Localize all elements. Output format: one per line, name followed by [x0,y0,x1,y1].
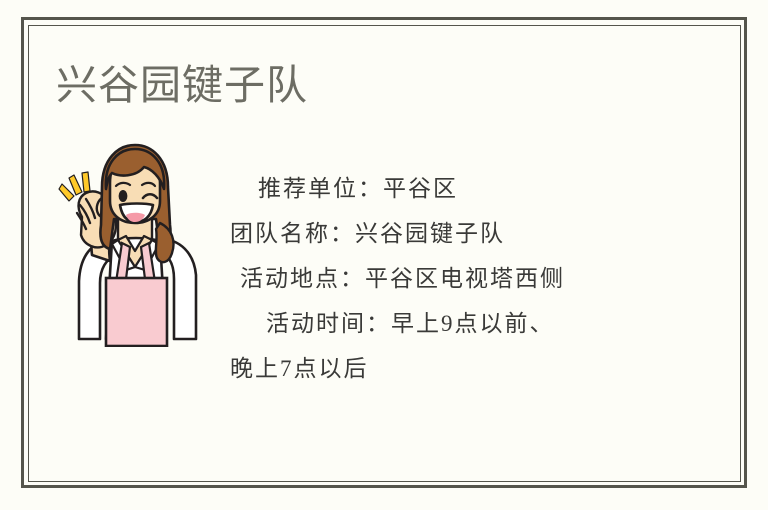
woman-ok-gesture-illustration [56,143,208,347]
info-line-activity-location: 活动地点：平谷区电视塔西侧 [222,256,642,301]
info-line-activity-time-cont: 晚上7点以后 [222,346,642,391]
info-line-activity-time: 活动时间：早上9点以前、 [222,301,642,346]
page-title: 兴谷园键子队 [56,61,308,109]
info-line-team-name: 团队名称：兴谷园键子队 [222,211,642,256]
info-line-recommending-unit: 推荐单位：平谷区 [222,166,642,211]
info-text-block: 推荐单位：平谷区 团队名称：兴谷园键子队 活动地点：平谷区电视塔西侧 活动时间：… [222,166,642,391]
info-card-page: 兴谷园键子队 [0,0,768,510]
